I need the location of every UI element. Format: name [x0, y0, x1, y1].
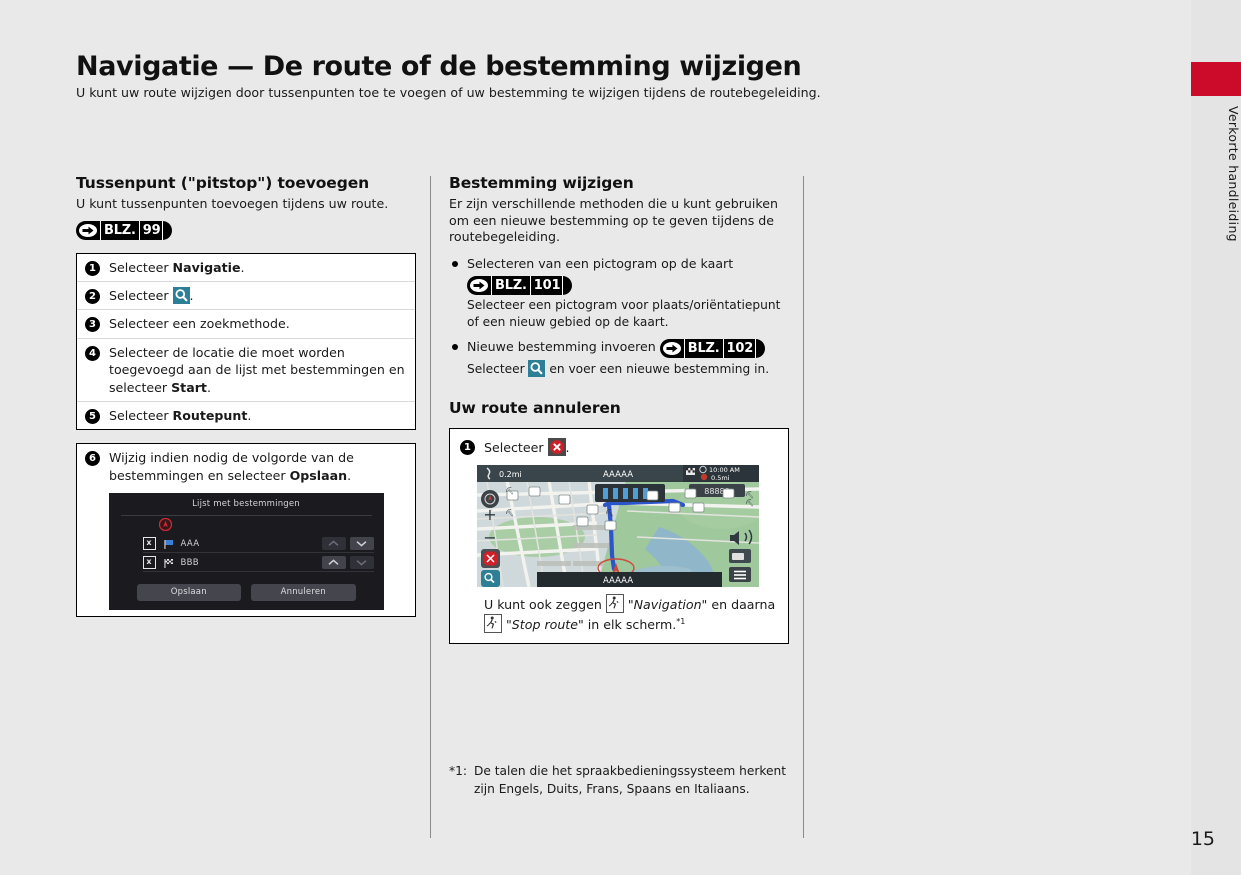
arrow-right-icon — [470, 279, 488, 292]
search-icon[interactable] — [528, 360, 545, 377]
bullet-dot — [452, 261, 458, 267]
step-number: 4 — [85, 346, 100, 361]
destination-row: x BBB — [143, 554, 374, 572]
step-text-post: . — [566, 440, 570, 455]
note-mid: en daarna — [707, 597, 775, 612]
section-heading-cancel: Uw route annuleren — [449, 399, 789, 417]
step-row: 3 Selecteer een zoekmethode. — [77, 310, 415, 338]
flag-checkered-icon — [163, 557, 175, 569]
footnote-marker: *1 — [676, 617, 685, 626]
move-up-button[interactable] — [322, 556, 346, 569]
side-tab-accent — [1191, 62, 1241, 96]
method-bullets: Selecteren van een pictogram op de kaart… — [449, 255, 789, 377]
footnote: *1: De talen die het spraakbedieningssys… — [449, 762, 789, 799]
cancel-route-box: 1 Selecteer . — [449, 428, 789, 644]
svg-text:0.2mi: 0.2mi — [499, 470, 522, 479]
section-heading-waypoint: Tussenpunt ("pitstop") toevoegen — [76, 174, 416, 192]
section-intro-destination: Er zijn verschillende methoden die u kun… — [449, 196, 789, 246]
bullet-sub-text: Selecteer en voer een nieuwe bestemming … — [467, 360, 789, 377]
nav-screen-title: Lijst met bestemmingen — [109, 493, 384, 509]
step-text-pre: Selecteer — [109, 408, 173, 423]
step-row: 2 Selecteer . — [77, 282, 415, 310]
bullet-body: Nieuwe bestemming invoeren BLZ. 102 Sele… — [467, 338, 789, 377]
move-down-button[interactable] — [350, 537, 374, 550]
map-screenshot: 88888 0.2mi AAAAA 10:00 AM — [477, 465, 759, 587]
svg-text:AAAAA: AAAAA — [603, 470, 633, 480]
step-row: 1 Selecteer Navigatie. — [77, 254, 415, 282]
step-text-bold: Opslaan — [290, 468, 348, 483]
column-divider-left — [430, 176, 431, 838]
destination-name: BBB — [181, 558, 318, 568]
svg-text:⛏: ⛏ — [505, 509, 514, 517]
column-divider-right — [803, 176, 804, 838]
bullet-main-text: Selecteren van een pictogram op de kaart — [467, 256, 733, 271]
svg-text:0.5mi: 0.5mi — [711, 474, 730, 482]
ref-label: BLZ. — [684, 339, 724, 358]
step-number: 1 — [460, 440, 475, 455]
ref-label: BLZ. — [100, 221, 140, 240]
step-text-post: . — [247, 408, 251, 423]
note-command-1: "Navigation" — [628, 597, 708, 612]
bullet-sub-pre: Selecteer — [467, 362, 528, 376]
cancel-button[interactable]: Annuleren — [251, 584, 356, 601]
step-number: 2 — [85, 289, 100, 304]
ref-label: BLZ. — [491, 276, 531, 295]
bullet-main-text: Nieuwe bestemming invoeren — [467, 339, 660, 354]
current-position-icon — [159, 518, 172, 531]
step-text-post: . — [207, 380, 211, 395]
page-header: Navigatie — De route of de bestemming wi… — [76, 52, 1136, 100]
bullet-dot — [452, 344, 458, 350]
page-reference-badge[interactable]: BLZ. 99 — [76, 221, 172, 240]
manual-page: Verkorte handleiding 15 Navigatie — De r… — [0, 0, 1241, 875]
ref-page: 102 — [724, 339, 757, 358]
voice-command-icon[interactable] — [484, 614, 502, 633]
step-text-bold: Navigatie — [173, 260, 241, 275]
arrow-right-icon — [79, 224, 97, 237]
step-text: Wijzig indien nodig de volgorde van de b… — [109, 449, 405, 484]
svg-text:⛏: ⛏ — [605, 509, 614, 517]
step-text-post: . — [241, 260, 245, 275]
destination-row: x AAA — [143, 535, 374, 553]
move-up-button[interactable] — [322, 537, 346, 550]
step-number: 6 — [85, 451, 100, 466]
voice-command-note: U kunt ook zeggen "Navigation" en daarna… — [460, 594, 776, 633]
step-text: Selecteer . — [484, 438, 776, 456]
step-row: 4 Selecteer de locatie die moet worden t… — [77, 339, 415, 402]
steps-box-1-5: 1 Selecteer Navigatie. 2 Selecteer . 3 S… — [76, 253, 416, 431]
section-heading-destination: Bestemming wijzigen — [449, 174, 789, 192]
step-text-post: . — [190, 288, 194, 303]
destination-name: AAA — [181, 539, 318, 549]
bullet-item: Nieuwe bestemming invoeren BLZ. 102 Sele… — [449, 338, 789, 377]
side-tab: Verkorte handleiding — [1191, 0, 1241, 875]
ref-badge-wrap: BLZ. 99 — [76, 218, 416, 240]
step-text-bold: Start — [171, 380, 207, 395]
move-down-button[interactable] — [350, 556, 374, 569]
step-text: Selecteer . — [109, 287, 405, 304]
page-number: 15 — [1191, 828, 1215, 850]
svg-text:⛏: ⛏ — [745, 499, 754, 507]
save-button[interactable]: Opslaan — [137, 584, 242, 601]
search-icon[interactable] — [173, 287, 190, 304]
destination-list-screenshot: Lijst met bestemmingen x AAA — [109, 493, 384, 610]
step-number: 1 — [85, 261, 100, 276]
svg-text:⛏: ⛏ — [745, 491, 754, 499]
ref-badge-wrap: BLZ. 101 — [467, 275, 789, 295]
remove-destination-button[interactable]: x — [143, 556, 156, 569]
note-command-2: "Stop route" — [506, 617, 584, 632]
step-text: Selecteer Navigatie. — [109, 259, 405, 276]
arrow-right-icon — [663, 342, 681, 355]
stop-route-icon[interactable] — [548, 438, 566, 456]
step-text-post: . — [347, 468, 351, 483]
flag-blue-icon — [163, 538, 175, 550]
nav-screen-rule — [121, 515, 372, 516]
steps-box-6: 6 Wijzig indien nodig de volgorde van de… — [76, 443, 416, 617]
step-text-pre: Selecteer de locatie die moet worden toe… — [109, 345, 405, 395]
note-pre: U kunt ook zeggen — [484, 597, 606, 612]
svg-text:10:00 AM: 10:00 AM — [709, 466, 740, 474]
svg-text:−: − — [483, 528, 496, 547]
step-row: 6 Wijzig indien nodig de volgorde van de… — [77, 444, 415, 484]
remove-destination-button[interactable]: x — [143, 537, 156, 550]
step-text-pre: Selecteer — [109, 288, 173, 303]
nav-screen-buttons: Opslaan Annuleren — [137, 584, 356, 601]
page-reference-badge[interactable]: BLZ. 101 — [467, 276, 572, 295]
svg-text:AAAAA: AAAAA — [603, 576, 633, 586]
left-column: Tussenpunt ("pitstop") toevoegen U kunt … — [76, 174, 416, 617]
step-text: Selecteer een zoekmethode. — [109, 315, 405, 332]
step-text: Selecteer Routepunt. — [109, 407, 405, 424]
step-number: 5 — [85, 409, 100, 424]
note-post: in elk scherm. — [584, 617, 676, 632]
step-text: Selecteer de locatie die moet worden toe… — [109, 344, 405, 396]
step-row: 5 Selecteer Routepunt. — [77, 402, 415, 429]
ref-page: 101 — [531, 276, 564, 295]
voice-command-icon[interactable] — [606, 594, 624, 613]
step-text-pre: Selecteer — [484, 440, 548, 455]
svg-text:⛏: ⛏ — [505, 487, 514, 495]
bullet-body: Selecteren van een pictogram op de kaart… — [467, 255, 789, 330]
bullet-sub-post: en voer een nieuwe bestemming in. — [545, 362, 769, 376]
bullet-sub-text: Selecteer een pictogram voor plaats/orië… — [467, 297, 789, 329]
step-row: 1 Selecteer . — [460, 438, 776, 456]
right-column: Bestemming wijzigen Er zijn verschillend… — [449, 174, 789, 644]
ref-page: 99 — [140, 221, 164, 240]
step-number: 3 — [85, 317, 100, 332]
footnote-text: De talen die het spraakbedieningssysteem… — [474, 762, 789, 799]
step-text-pre: Selecteer — [109, 260, 173, 275]
bullet-item: Selecteren van een pictogram op de kaart… — [449, 255, 789, 330]
map-image: 88888 0.2mi AAAAA 10:00 AM — [477, 465, 759, 587]
svg-text:+: + — [483, 505, 496, 524]
footnote-mark: *1: — [449, 762, 467, 799]
step-text-bold: Routepunt — [173, 408, 248, 423]
section-intro-waypoint: U kunt tussenpunten toevoegen tijdens uw… — [76, 196, 416, 213]
page-subtitle: U kunt uw route wijzigen door tussenpunt… — [76, 85, 1136, 100]
page-title: Navigatie — De route of de bestemming wi… — [76, 52, 1136, 82]
side-tab-label: Verkorte handleiding — [1191, 106, 1241, 242]
page-reference-badge[interactable]: BLZ. 102 — [660, 339, 765, 358]
